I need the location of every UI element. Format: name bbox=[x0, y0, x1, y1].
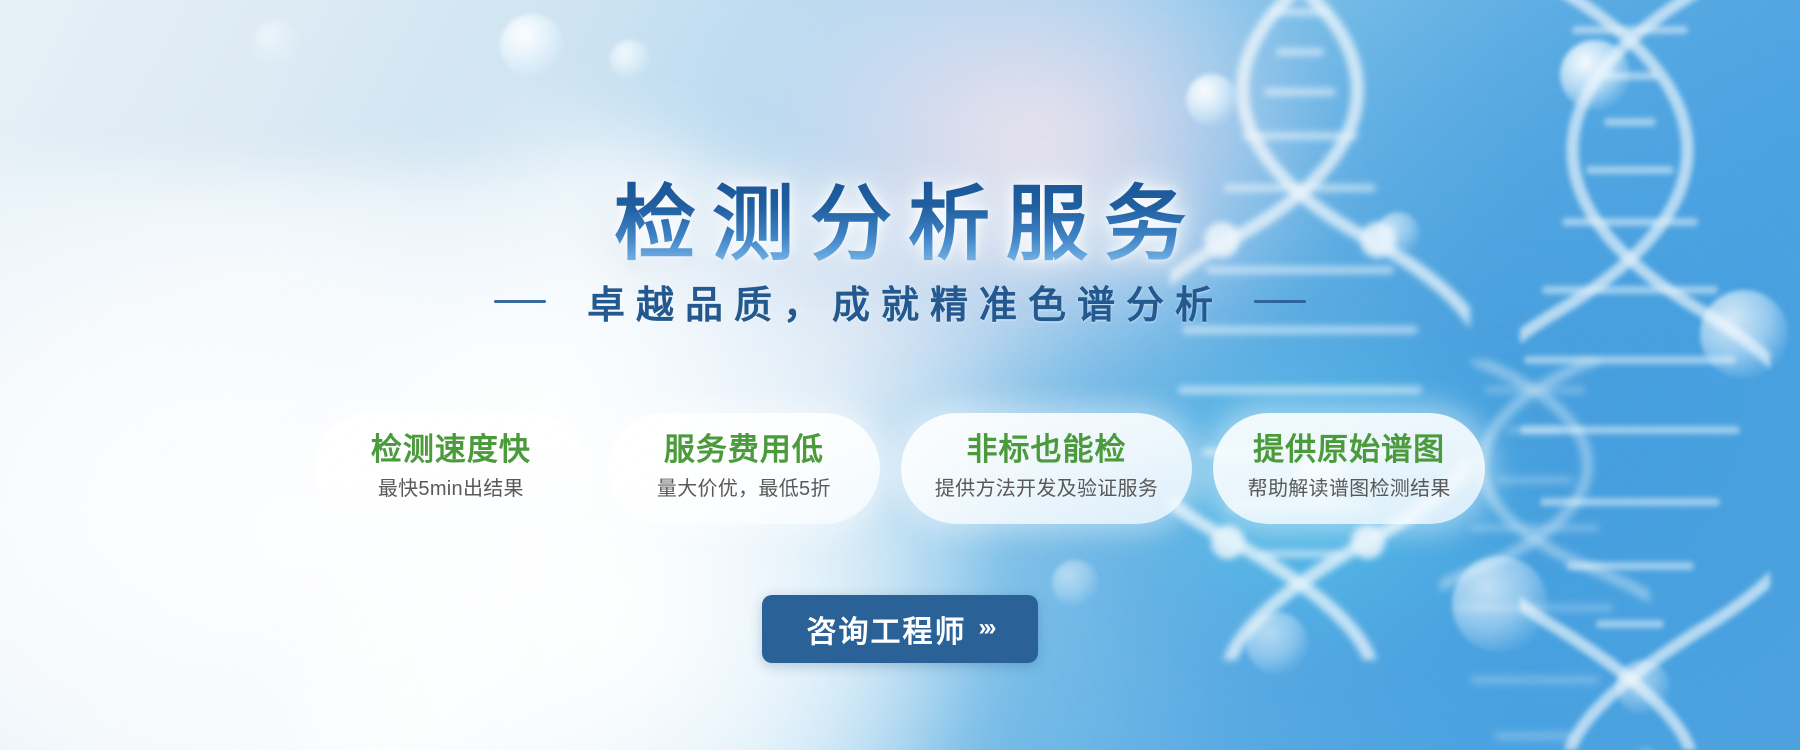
subtitle-row: 卓越品质，成就精准色谱分析 bbox=[0, 274, 1800, 329]
feature-pill-title: 服务费用低 bbox=[642, 430, 846, 471]
feature-pill-title: 非标也能检 bbox=[935, 430, 1158, 471]
rule-left-decoration bbox=[494, 300, 546, 303]
consult-engineer-button[interactable]: 咨询工程师 ››› bbox=[762, 595, 1038, 663]
feature-pill-subtitle: 提供方法开发及验证服务 bbox=[935, 476, 1158, 503]
feature-pill-subtitle: 帮助解读谱图检测结果 bbox=[1247, 476, 1451, 503]
cta-row: 咨询工程师 ››› bbox=[0, 595, 1800, 663]
chevron-right-triple-icon: ››› bbox=[979, 616, 994, 640]
feature-pill-speed[interactable]: 检测速度快 最快5min出结果 bbox=[315, 413, 587, 524]
feature-pill-subtitle: 最快5min出结果 bbox=[349, 476, 553, 503]
feature-pill-spectra[interactable]: 提供原始谱图 帮助解读谱图检测结果 bbox=[1213, 413, 1485, 524]
consult-engineer-label: 咨询工程师 bbox=[807, 607, 967, 651]
banner-content: 检测分析服务 卓越品质，成就精准色谱分析 检测速度快 最快5min出结果 服务费… bbox=[0, 0, 1800, 750]
hero-banner: 检测分析服务 卓越品质，成就精准色谱分析 检测速度快 最快5min出结果 服务费… bbox=[0, 0, 1800, 750]
feature-pill-subtitle: 量大价优，最低5折 bbox=[642, 476, 846, 503]
feature-pill-nonstandard[interactable]: 非标也能检 提供方法开发及验证服务 bbox=[901, 413, 1192, 524]
page-subtitle: 卓越品质，成就精准色谱分析 bbox=[576, 274, 1224, 329]
rule-right-decoration bbox=[1254, 300, 1306, 303]
feature-pill-price[interactable]: 服务费用低 量大价优，最低5折 bbox=[608, 413, 880, 524]
feature-pill-list: 检测速度快 最快5min出结果 服务费用低 量大价优，最低5折 非标也能检 提供… bbox=[0, 413, 1800, 524]
page-title: 检测分析服务 bbox=[0, 177, 1800, 272]
feature-pill-title: 检测速度快 bbox=[349, 430, 553, 471]
feature-pill-title: 提供原始谱图 bbox=[1247, 430, 1451, 471]
